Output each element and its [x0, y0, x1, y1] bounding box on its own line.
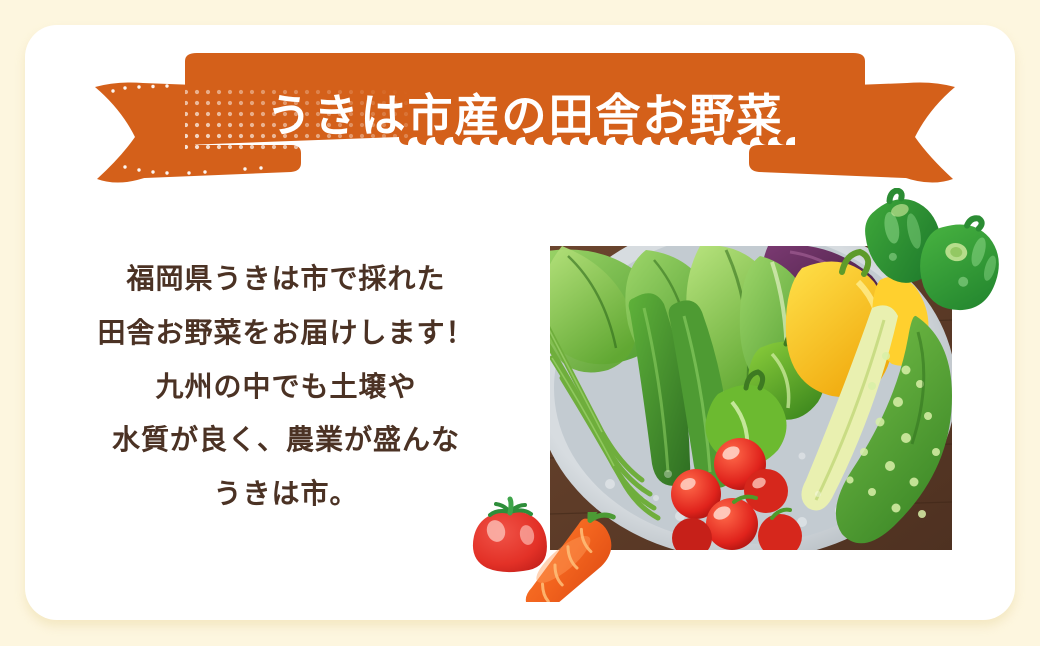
- carrot-illustration: [505, 512, 635, 602]
- description-text: 福岡県うきは市で採れた 田舎お野菜をお届けします！ 九州の中でも土壌や 水質が良…: [62, 252, 510, 521]
- pepper-art: [862, 188, 1014, 313]
- description-line-2: 田舎お野菜をお届けします！: [62, 306, 510, 360]
- ribbon-banner: うきは市産の田舎お野菜: [95, 45, 955, 190]
- description-line-4: 水質が良く、農業が盛んな: [62, 413, 510, 467]
- description-line-5: うきは市。: [62, 467, 510, 521]
- green-bell-pepper-illustration: [862, 188, 1014, 313]
- page-root: うきは市産の田舎お野菜 福岡県うきは市で採れた 田舎お野菜をお届けします！ 九州…: [0, 0, 1040, 646]
- carrot-art: [505, 512, 635, 602]
- banner-title: うきは市産の田舎お野菜: [95, 93, 955, 138]
- description-line-3: 九州の中でも土壌や: [62, 360, 510, 414]
- description-line-1: 福岡県うきは市で採れた: [62, 252, 510, 306]
